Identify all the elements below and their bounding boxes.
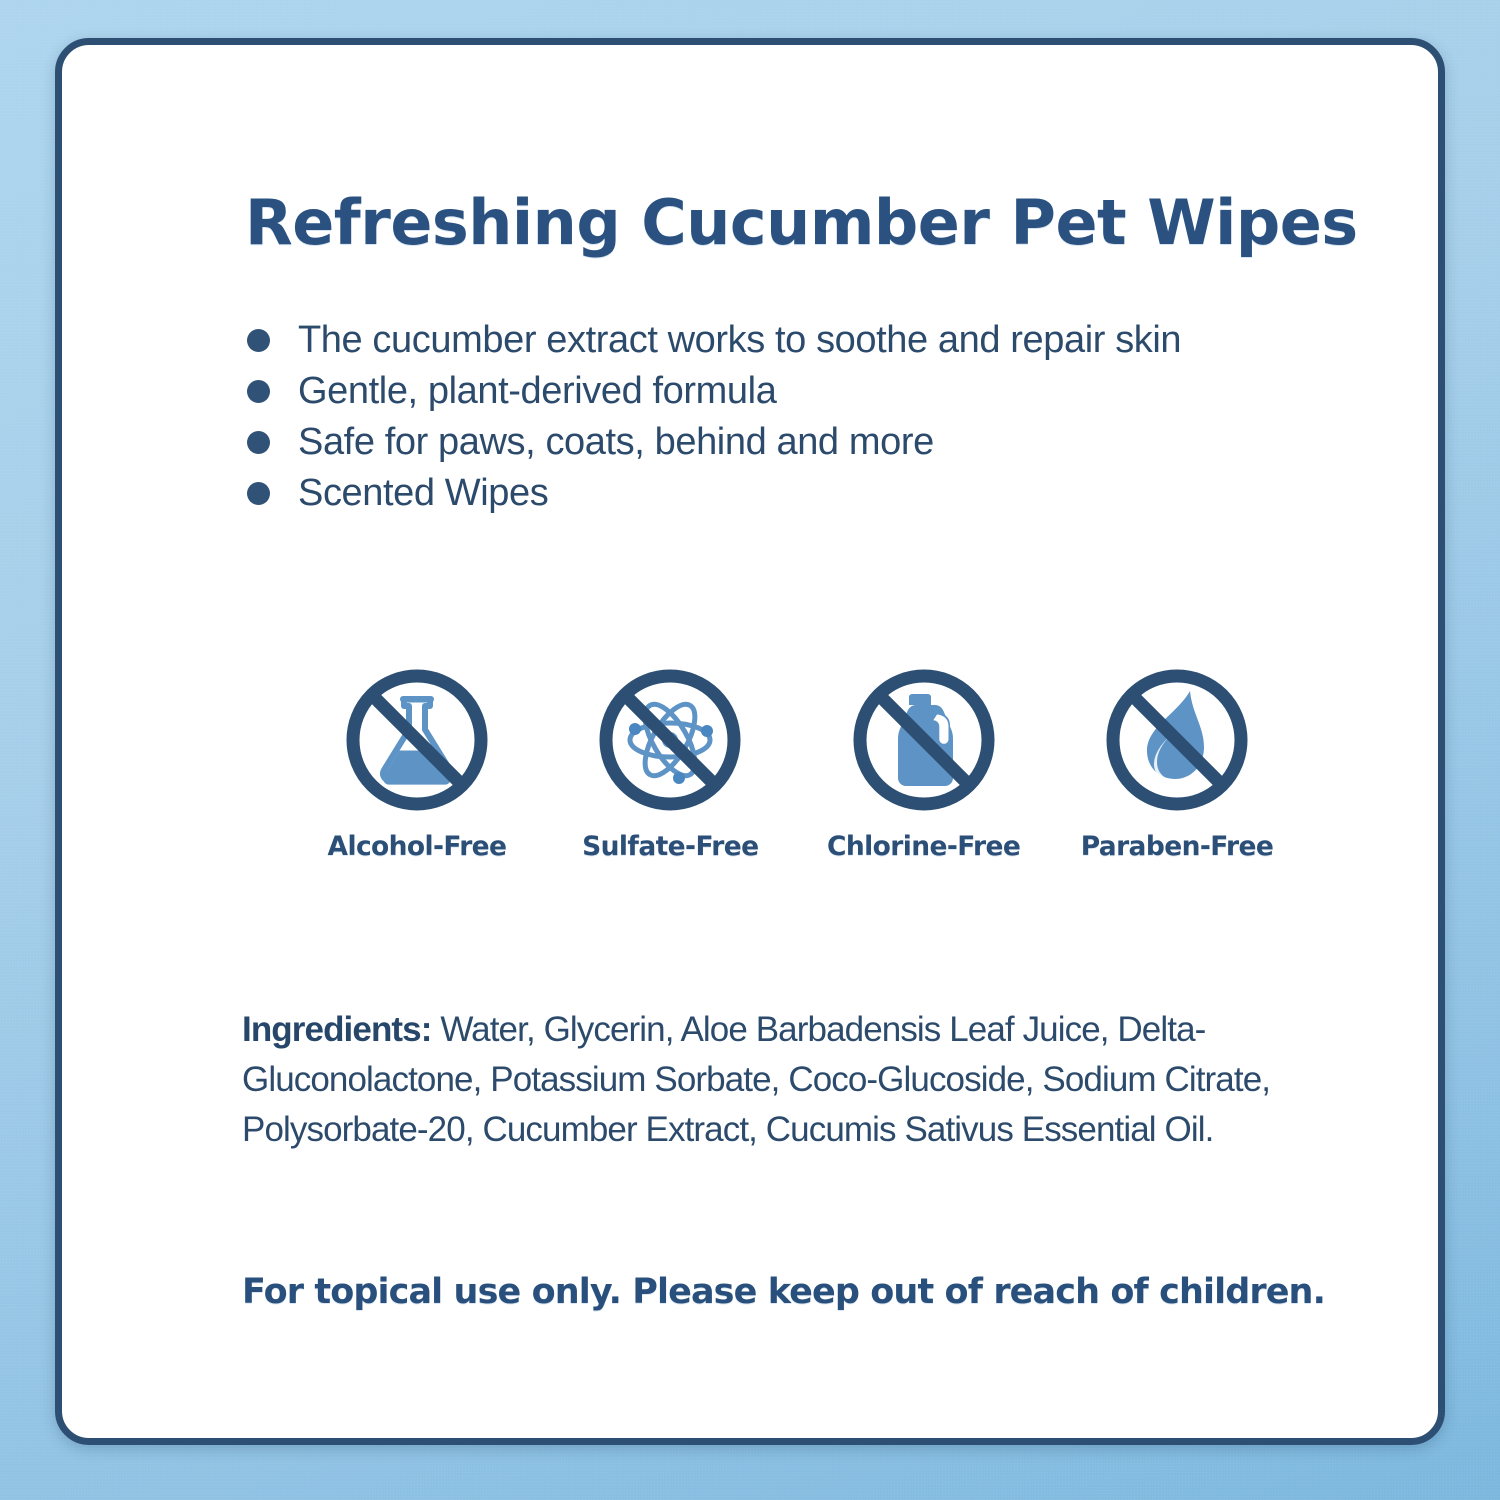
bullet-text: Scented Wipes — [298, 472, 548, 514]
badge-label: Alcohol-Free — [328, 831, 507, 862]
bullet-text: Gentle, plant-derived formula — [298, 370, 776, 412]
badge-alcohol-free: Alcohol-Free — [317, 665, 517, 862]
no-bottle-icon — [849, 665, 999, 815]
bullet-dot-icon — [247, 380, 270, 403]
bullet-text: Safe for paws, coats, behind and more — [298, 421, 934, 463]
list-item: Gentle, plant-derived formula — [242, 368, 1332, 414]
ingredients-paragraph: Ingredients: Water, Glycerin, Aloe Barba… — [242, 1005, 1282, 1155]
no-atom-icon — [595, 665, 745, 815]
bullet-dot-icon — [247, 431, 270, 454]
badge-label: Paraben-Free — [1081, 831, 1274, 862]
free-from-badge-row: Alcohol-Free — [317, 665, 1277, 862]
product-info-poster: Refreshing Cucumber Pet Wipes The cucumb… — [0, 0, 1500, 1500]
feature-bullet-list: The cucumber extract works to soothe and… — [242, 317, 1332, 521]
warning-text: For topical use only. Please keep out of… — [242, 1272, 1342, 1312]
badge-label: Chlorine-Free — [827, 831, 1020, 862]
badge-paraben-free: Paraben-Free — [1077, 665, 1277, 862]
page-title: Refreshing Cucumber Pet Wipes — [245, 190, 1305, 255]
badge-label: Sulfate-Free — [582, 831, 758, 862]
content-card: Refreshing Cucumber Pet Wipes The cucumb… — [55, 38, 1445, 1445]
bullet-text: The cucumber extract works to soothe and… — [298, 319, 1181, 361]
no-flask-icon — [342, 665, 492, 815]
bullet-dot-icon — [247, 482, 270, 505]
list-item: Safe for paws, coats, behind and more — [242, 419, 1332, 465]
no-droplet-icon — [1102, 665, 1252, 815]
list-item: Scented Wipes — [242, 470, 1332, 516]
ingredients-label: Ingredients: — [242, 1010, 432, 1049]
badge-chlorine-free: Chlorine-Free — [824, 665, 1024, 862]
list-item: The cucumber extract works to soothe and… — [242, 317, 1332, 363]
badge-sulfate-free: Sulfate-Free — [570, 665, 770, 862]
bullet-dot-icon — [247, 329, 270, 352]
